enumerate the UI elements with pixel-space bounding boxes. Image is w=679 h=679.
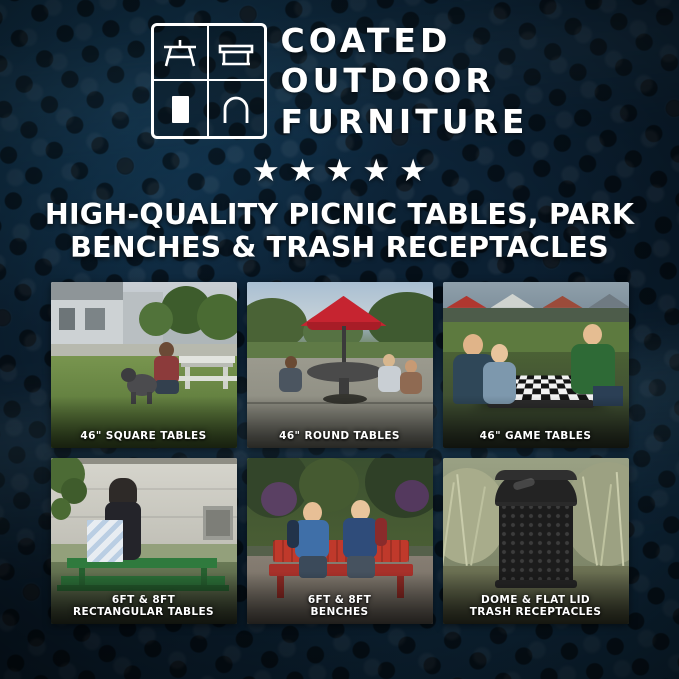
photo-game-tables	[443, 282, 629, 448]
product-gallery: 46" SQUARE TABLES	[40, 282, 640, 624]
trash-receptacle-icon	[154, 81, 209, 136]
product-poster: COATED OUTDOOR FURNITURE ★ ★ ★ ★ ★ HIGH-…	[0, 0, 679, 679]
caption-line-2: TRASH RECEPTACLES	[470, 606, 602, 618]
rating-stars: ★ ★ ★ ★ ★	[252, 155, 427, 186]
brand-logo: COATED OUTDOOR FURNITURE	[151, 22, 529, 141]
gallery-tile-game-tables[interactable]: 46" GAME TABLES	[443, 282, 629, 448]
star-icon-2: ★	[289, 155, 317, 186]
logo-wordmark: COATED OUTDOOR FURNITURE	[281, 22, 529, 141]
headline: HIGH-QUALITY PICNIC TABLES, PARK BENCHES…	[30, 198, 650, 264]
headline-line-2: BENCHES & TRASH RECEPTACLES	[30, 231, 650, 264]
gallery-caption-round-tables: 46" ROUND TABLES	[247, 430, 433, 442]
star-icon-4: ★	[362, 155, 390, 186]
picnic-table-icon	[154, 26, 209, 81]
bench-icon	[209, 26, 264, 81]
logo-mark	[151, 23, 267, 139]
logo-line-2: OUTDOOR	[281, 62, 529, 100]
caption-line-2: BENCHES	[311, 606, 369, 618]
gallery-tile-benches[interactable]: 6FT & 8FT BENCHES	[247, 458, 433, 624]
caption-line-1: 6FT & 8FT	[308, 594, 371, 606]
headline-line-1: HIGH-QUALITY PICNIC TABLES, PARK	[45, 198, 634, 231]
photo-round-tables	[247, 282, 433, 448]
gallery-tile-square-tables[interactable]: 46" SQUARE TABLES	[51, 282, 237, 448]
gallery-caption-rectangular-tables: 6FT & 8FT RECTANGULAR TABLES	[51, 594, 237, 618]
gallery-caption-game-tables: 46" GAME TABLES	[443, 430, 629, 442]
gallery-tile-trash-receptacles[interactable]: DOME & FLAT LID TRASH RECEPTACLES	[443, 458, 629, 624]
star-icon-3: ★	[326, 155, 354, 186]
star-icon-1: ★	[252, 155, 280, 186]
gallery-caption-trash-receptacles: DOME & FLAT LID TRASH RECEPTACLES	[443, 594, 629, 618]
logo-line-1: COATED	[281, 22, 529, 60]
gallery-tile-rectangular-tables[interactable]: 6FT & 8FT RECTANGULAR TABLES	[51, 458, 237, 624]
caption-line-2: RECTANGULAR TABLES	[73, 606, 214, 618]
logo-line-3: FURNITURE	[281, 103, 529, 141]
caption-line-1: DOME & FLAT LID	[481, 594, 590, 606]
caption-line-1: 6FT & 8FT	[112, 594, 175, 606]
dome-lid-icon	[209, 81, 264, 136]
gallery-tile-round-tables[interactable]: 46" ROUND TABLES	[247, 282, 433, 448]
photo-square-tables	[51, 282, 237, 448]
star-icon-5: ★	[399, 155, 427, 186]
gallery-caption-square-tables: 46" SQUARE TABLES	[51, 430, 237, 442]
gallery-caption-benches: 6FT & 8FT BENCHES	[247, 594, 433, 618]
